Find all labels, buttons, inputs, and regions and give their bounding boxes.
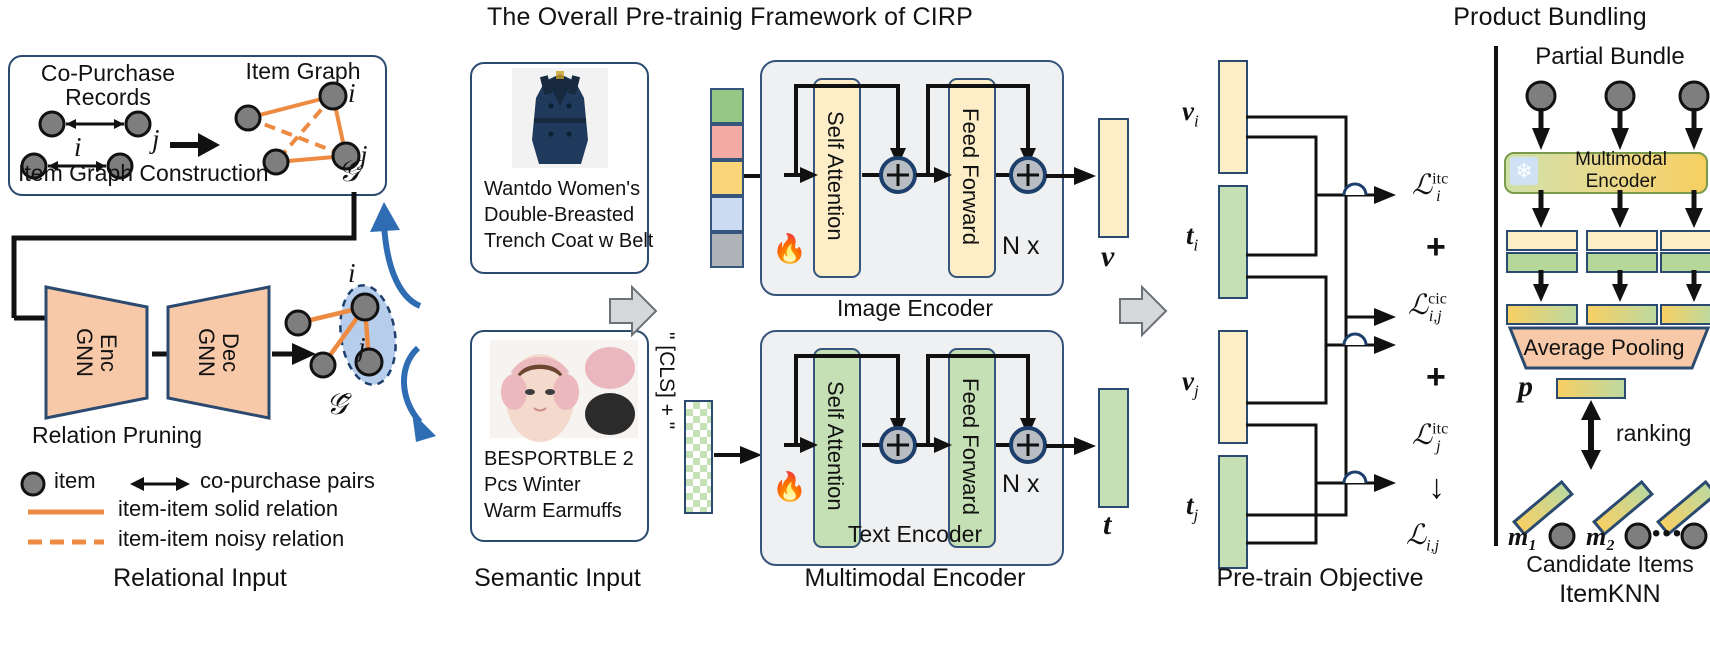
bundle-fused-3: [1660, 304, 1710, 325]
text-encoder-cls-label: " [CLS] + ": [652, 332, 678, 482]
image-flame-icon: 🔥: [772, 232, 807, 265]
semantic-card-coat-caption-3: Trench Coat w Belt: [484, 230, 653, 253]
image-encoder-output-arrow-icon: [1046, 165, 1098, 187]
item-graph-construction-label: Item Graph Construction: [18, 160, 269, 187]
loss-total-base: ℒ: [1406, 520, 1426, 551]
graph-symbol-G: 𝒢: [338, 155, 359, 189]
loss-cic-base: ℒ: [1408, 290, 1428, 321]
gnn-dec-line2: Dec: [217, 333, 243, 372]
image-patch-swatch-3: [710, 160, 744, 196]
ti-sub: i: [1194, 235, 1199, 254]
candidate-items-label: Candidate Items: [1510, 550, 1710, 578]
legend-solid-line-icon: [26, 504, 106, 520]
loss-itc-j-sup: itc: [1432, 421, 1448, 438]
tj-symbol: t: [1186, 490, 1194, 520]
objective-vector-ti-label: ti: [1186, 220, 1198, 255]
gnn-enc-label2: Enc: [96, 300, 120, 405]
ti-symbol: t: [1186, 220, 1194, 250]
vi-sub: i: [1194, 111, 1199, 130]
construction-arrow-icon: [168, 128, 224, 162]
loss-itc-i-sup: itc: [1432, 171, 1448, 188]
legend-node-icon: [18, 470, 50, 498]
image-encoder-output-vector: [1098, 118, 1129, 238]
semantic-card-coat-caption-1: Wantdo Women's: [484, 178, 640, 201]
objective-vector-vi-label: vi: [1182, 96, 1199, 131]
item-graph-label-i: i: [348, 78, 356, 109]
copurchase-title-line1: Co-Purchase: [18, 60, 198, 86]
image-output-symbol: v: [1101, 240, 1114, 274]
copurchase-title-line2: Records: [18, 84, 198, 110]
loss-cic-sup: cic: [1428, 291, 1447, 308]
bundle-feature-v-1: [1506, 230, 1578, 251]
copurchase-node-label-j: j: [152, 124, 160, 155]
vj-symbol: v: [1182, 366, 1194, 396]
loss-itc-i-base: ℒ: [1412, 170, 1432, 201]
tj-sub: j: [1194, 505, 1199, 524]
text-encoder-output-arrow-icon: [1046, 435, 1098, 457]
image-patch-swatch-4: [710, 196, 744, 232]
loss-itc-i: ℒitci: [1412, 168, 1441, 206]
image-patch-swatch-5: [710, 232, 744, 268]
objective-vector-tj-label: tj: [1186, 490, 1198, 525]
loss-cic-ij: ℒcici,j: [1408, 288, 1442, 326]
ranking-double-arrow-icon: [1576, 400, 1606, 472]
figure-title: The Overall Pre-trainig Framework of CIR…: [400, 2, 1060, 32]
pooled-symbol-p: p: [1518, 370, 1533, 404]
loss-total: ℒi,j: [1406, 518, 1439, 556]
panel-divider: [1494, 46, 1498, 546]
features-to-fused-arrows: [1504, 270, 1710, 304]
loss-down-arrow-icon: ↓: [1428, 468, 1445, 507]
image-encoder-residual-wiring: [770, 70, 1055, 230]
snowflake-icon: ❄: [1510, 157, 1538, 185]
copurchase-node-label-i: i: [74, 132, 82, 163]
partial-bundle-label: Partial Bundle: [1510, 42, 1710, 72]
vj-sub: j: [1194, 381, 1199, 400]
text-encoder-repeat-label: N x: [1002, 470, 1040, 499]
semantic-to-encoder-arrow-icon: [608, 285, 660, 337]
candidate-symbol-m1: m₁: [1508, 522, 1537, 552]
itemknn-panel-label: ItemKNN: [1510, 578, 1710, 610]
loss-itc-j-sub: j: [1436, 438, 1440, 455]
relational-input-panel-label: Relational Input: [20, 562, 380, 594]
pretrain-objective-panel-label: Pre-train Objective: [1155, 562, 1485, 594]
average-pooling-label: Average Pooling: [1504, 328, 1704, 368]
navy-trench-coat-photo: [512, 68, 608, 168]
loss-itc-j-base: ℒ: [1412, 420, 1432, 451]
loss-itc-j: ℒitcj: [1412, 418, 1441, 456]
candidate-ellipsis: •••: [1652, 520, 1683, 548]
bundle-feature-v-2: [1586, 230, 1658, 251]
figure-root: The Overall Pre-trainig Framework of CIR…: [0, 0, 1710, 649]
gnn-dec-label: GNN: [194, 300, 218, 405]
multimodal-encoder-panel-label: Multimodal Encoder: [760, 562, 1070, 594]
text-flame-icon: 🔥: [772, 470, 807, 503]
pooled-vector: [1556, 378, 1626, 399]
bundle-fused-1: [1506, 304, 1578, 325]
legend-item-label: item: [54, 468, 96, 494]
bundle-fused-2: [1586, 304, 1658, 325]
semantic-input-panel-label: Semantic Input: [450, 562, 665, 594]
gnn-enc-line2: Enc: [95, 334, 121, 372]
relation-to-semantic-arrows: [360, 150, 470, 480]
loss-total-sub: i,j: [1426, 538, 1439, 555]
gnn-dec-label2: Dec: [218, 300, 242, 405]
text-encoder-caption: Text Encoder: [800, 520, 1030, 548]
text-encoder-input-vector: [684, 400, 713, 514]
gnn-dec-line1: GNN: [193, 328, 219, 377]
legend-noisy-relation-label: item-item noisy relation: [118, 526, 344, 552]
legend-double-arrow-icon: [128, 472, 192, 496]
legend-copurchase-label: co-purchase pairs: [200, 468, 375, 494]
text-encoder-output-vector: [1098, 388, 1129, 508]
gnn-enc-line1: GNN: [71, 328, 97, 377]
image-patch-swatch-1: [710, 88, 744, 124]
text-output-symbol: t: [1103, 508, 1111, 542]
ranking-label: ranking: [1616, 420, 1691, 447]
bundling-multimodal-encoder-label: Multimodal Encoder: [1540, 152, 1702, 190]
relation-pruning-label: Relation Pruning: [32, 422, 202, 449]
bundle-feature-v-3: [1660, 230, 1710, 251]
encoder-to-features-arrows: [1504, 190, 1710, 230]
pink-black-earmuffs-photo: [490, 340, 638, 438]
gnn-enc-label: GNN: [72, 300, 96, 405]
objective-wiring: [1240, 55, 1420, 575]
product-bundling-title: Product Bundling: [1390, 2, 1710, 32]
loss-plus-2: +: [1426, 358, 1446, 397]
semantic-card-coat-caption-2: Double-Breasted: [484, 204, 634, 227]
vi-symbol: v: [1182, 96, 1194, 126]
text-input-arrow-icon: [714, 444, 764, 466]
bundle-item-nodes-and-arrows: [1504, 80, 1710, 152]
loss-itc-i-sub: i: [1436, 188, 1440, 205]
image-patch-swatch-2: [710, 124, 744, 160]
legend-solid-relation-label: item-item solid relation: [118, 496, 338, 522]
loss-plus-1: +: [1426, 228, 1446, 267]
pruned-graph-symbol: 𝒢̃: [326, 388, 347, 422]
legend-dashed-line-icon: [26, 534, 106, 550]
encoder-to-objective-arrow-icon: [1118, 285, 1170, 337]
pruned-label-i: i: [348, 258, 356, 289]
semantic-card-earmuffs-caption-3: Warm Earmuffs: [484, 500, 622, 523]
objective-vector-vj-label: vj: [1182, 366, 1199, 401]
image-encoder-caption: Image Encoder: [800, 294, 1030, 322]
candidate-symbol-m2: m₂: [1586, 522, 1615, 552]
semantic-card-earmuffs-caption-2: Pcs Winter: [484, 474, 581, 497]
semantic-card-earmuffs-caption-1: BESPORTBLE 2: [484, 448, 634, 471]
image-encoder-repeat-label: N x: [1002, 232, 1040, 261]
loss-cic-sub: i,j: [1429, 308, 1442, 325]
